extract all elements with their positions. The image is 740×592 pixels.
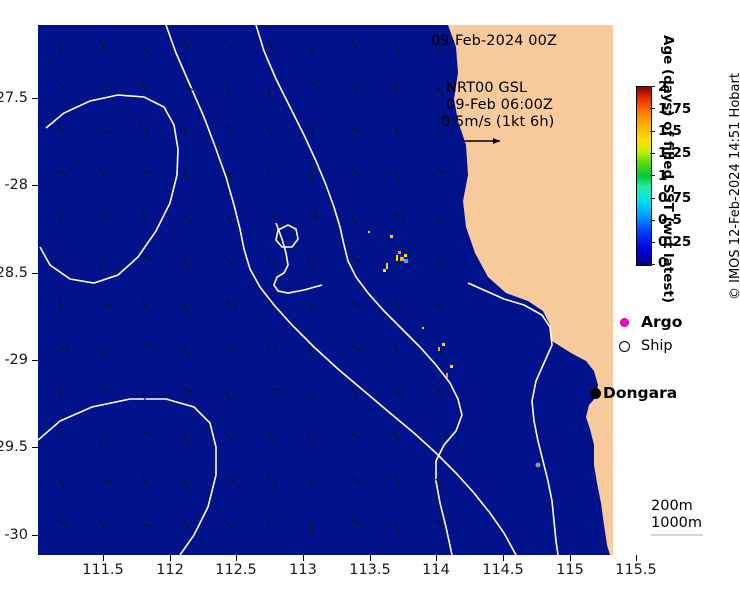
x-tick-label: 111.5 [73,562,133,578]
legend-label-ship: Ship [641,338,673,354]
y-tick [32,185,38,186]
x-tick-label: 112 [140,562,200,578]
x-tick [303,555,304,561]
y-tick-label: -30 [0,527,28,543]
colorbar-tick [650,86,655,87]
colorbar-title: Age (days) of filled SST (wrt latest) [660,35,676,303]
colorbar-tick [650,220,655,221]
legend-label-argo: Argo [641,313,682,331]
legend-item-argo[interactable]: Argo [615,313,682,331]
depth-label-1000m: 1000m [651,515,703,532]
x-tick [170,555,171,561]
date-stamp: 09-Feb-2024 00Z [431,33,557,49]
y-tick-label: -28 [0,177,28,193]
source-model-label: NRT00 GSL [446,80,527,96]
colorbar-gradient [636,86,652,266]
x-tick-label: 112.5 [206,562,266,578]
legend-item-ship[interactable]: Ship [615,338,673,354]
x-tick [436,555,437,561]
y-tick-label: -28.5 [0,265,28,281]
x-tick-label: 113.5 [340,562,400,578]
depth-contour-key: 200m 1000m [651,498,703,536]
platform-markers [536,463,541,468]
y-tick-label: -27.5 [0,90,28,106]
city-label: Dongara [603,384,677,402]
y-tick [32,447,38,448]
y-tick-label: -29 [0,352,28,368]
colorbar-tick [650,264,655,265]
x-tick [570,555,571,561]
y-tick [32,98,38,99]
reference-arrow-icon [462,134,510,148]
colorbar-tick [650,242,655,243]
y-tick-label: -29.5 [0,439,28,455]
copyright-credit: © IMOS 12-Feb-2024 14:51 Hobart [728,73,740,300]
x-tick [636,555,637,561]
colorbar-tick [650,108,655,109]
y-tick [32,360,38,361]
y-tick [32,273,38,274]
argo-marker-icon [615,318,633,327]
x-tick [236,555,237,561]
x-tick-label: 115.5 [606,562,666,578]
colorbar[interactable]: 2 1.75 1.5 1.25 1 0.75 0.5 0.25 0 [636,86,652,266]
vector-scale-label: 0.5m/s (1kt 6h) [441,114,554,130]
city-marker-icon [590,388,601,399]
colorbar-tick [650,198,655,199]
x-tick-label: 114.5 [473,562,533,578]
colorbar-tick [650,153,655,154]
x-tick [503,555,504,561]
colorbar-tick [650,131,655,132]
x-tick-label: 113 [273,562,333,578]
x-tick-label: 115 [540,562,600,578]
map-figure: 09-Feb-2024 00Z NRT00 GSL 09-Feb 06:00Z … [0,0,740,592]
depth-label-200m: 200m [651,498,703,515]
depth-contour-sample-line [651,534,703,536]
ship-marker-icon [615,341,633,352]
x-tick-label: 114 [406,562,466,578]
colorbar-tick [650,175,655,176]
source-time-label: 09-Feb 06:00Z [446,97,553,113]
x-tick [370,555,371,561]
x-tick [103,555,104,561]
y-tick [32,535,38,536]
